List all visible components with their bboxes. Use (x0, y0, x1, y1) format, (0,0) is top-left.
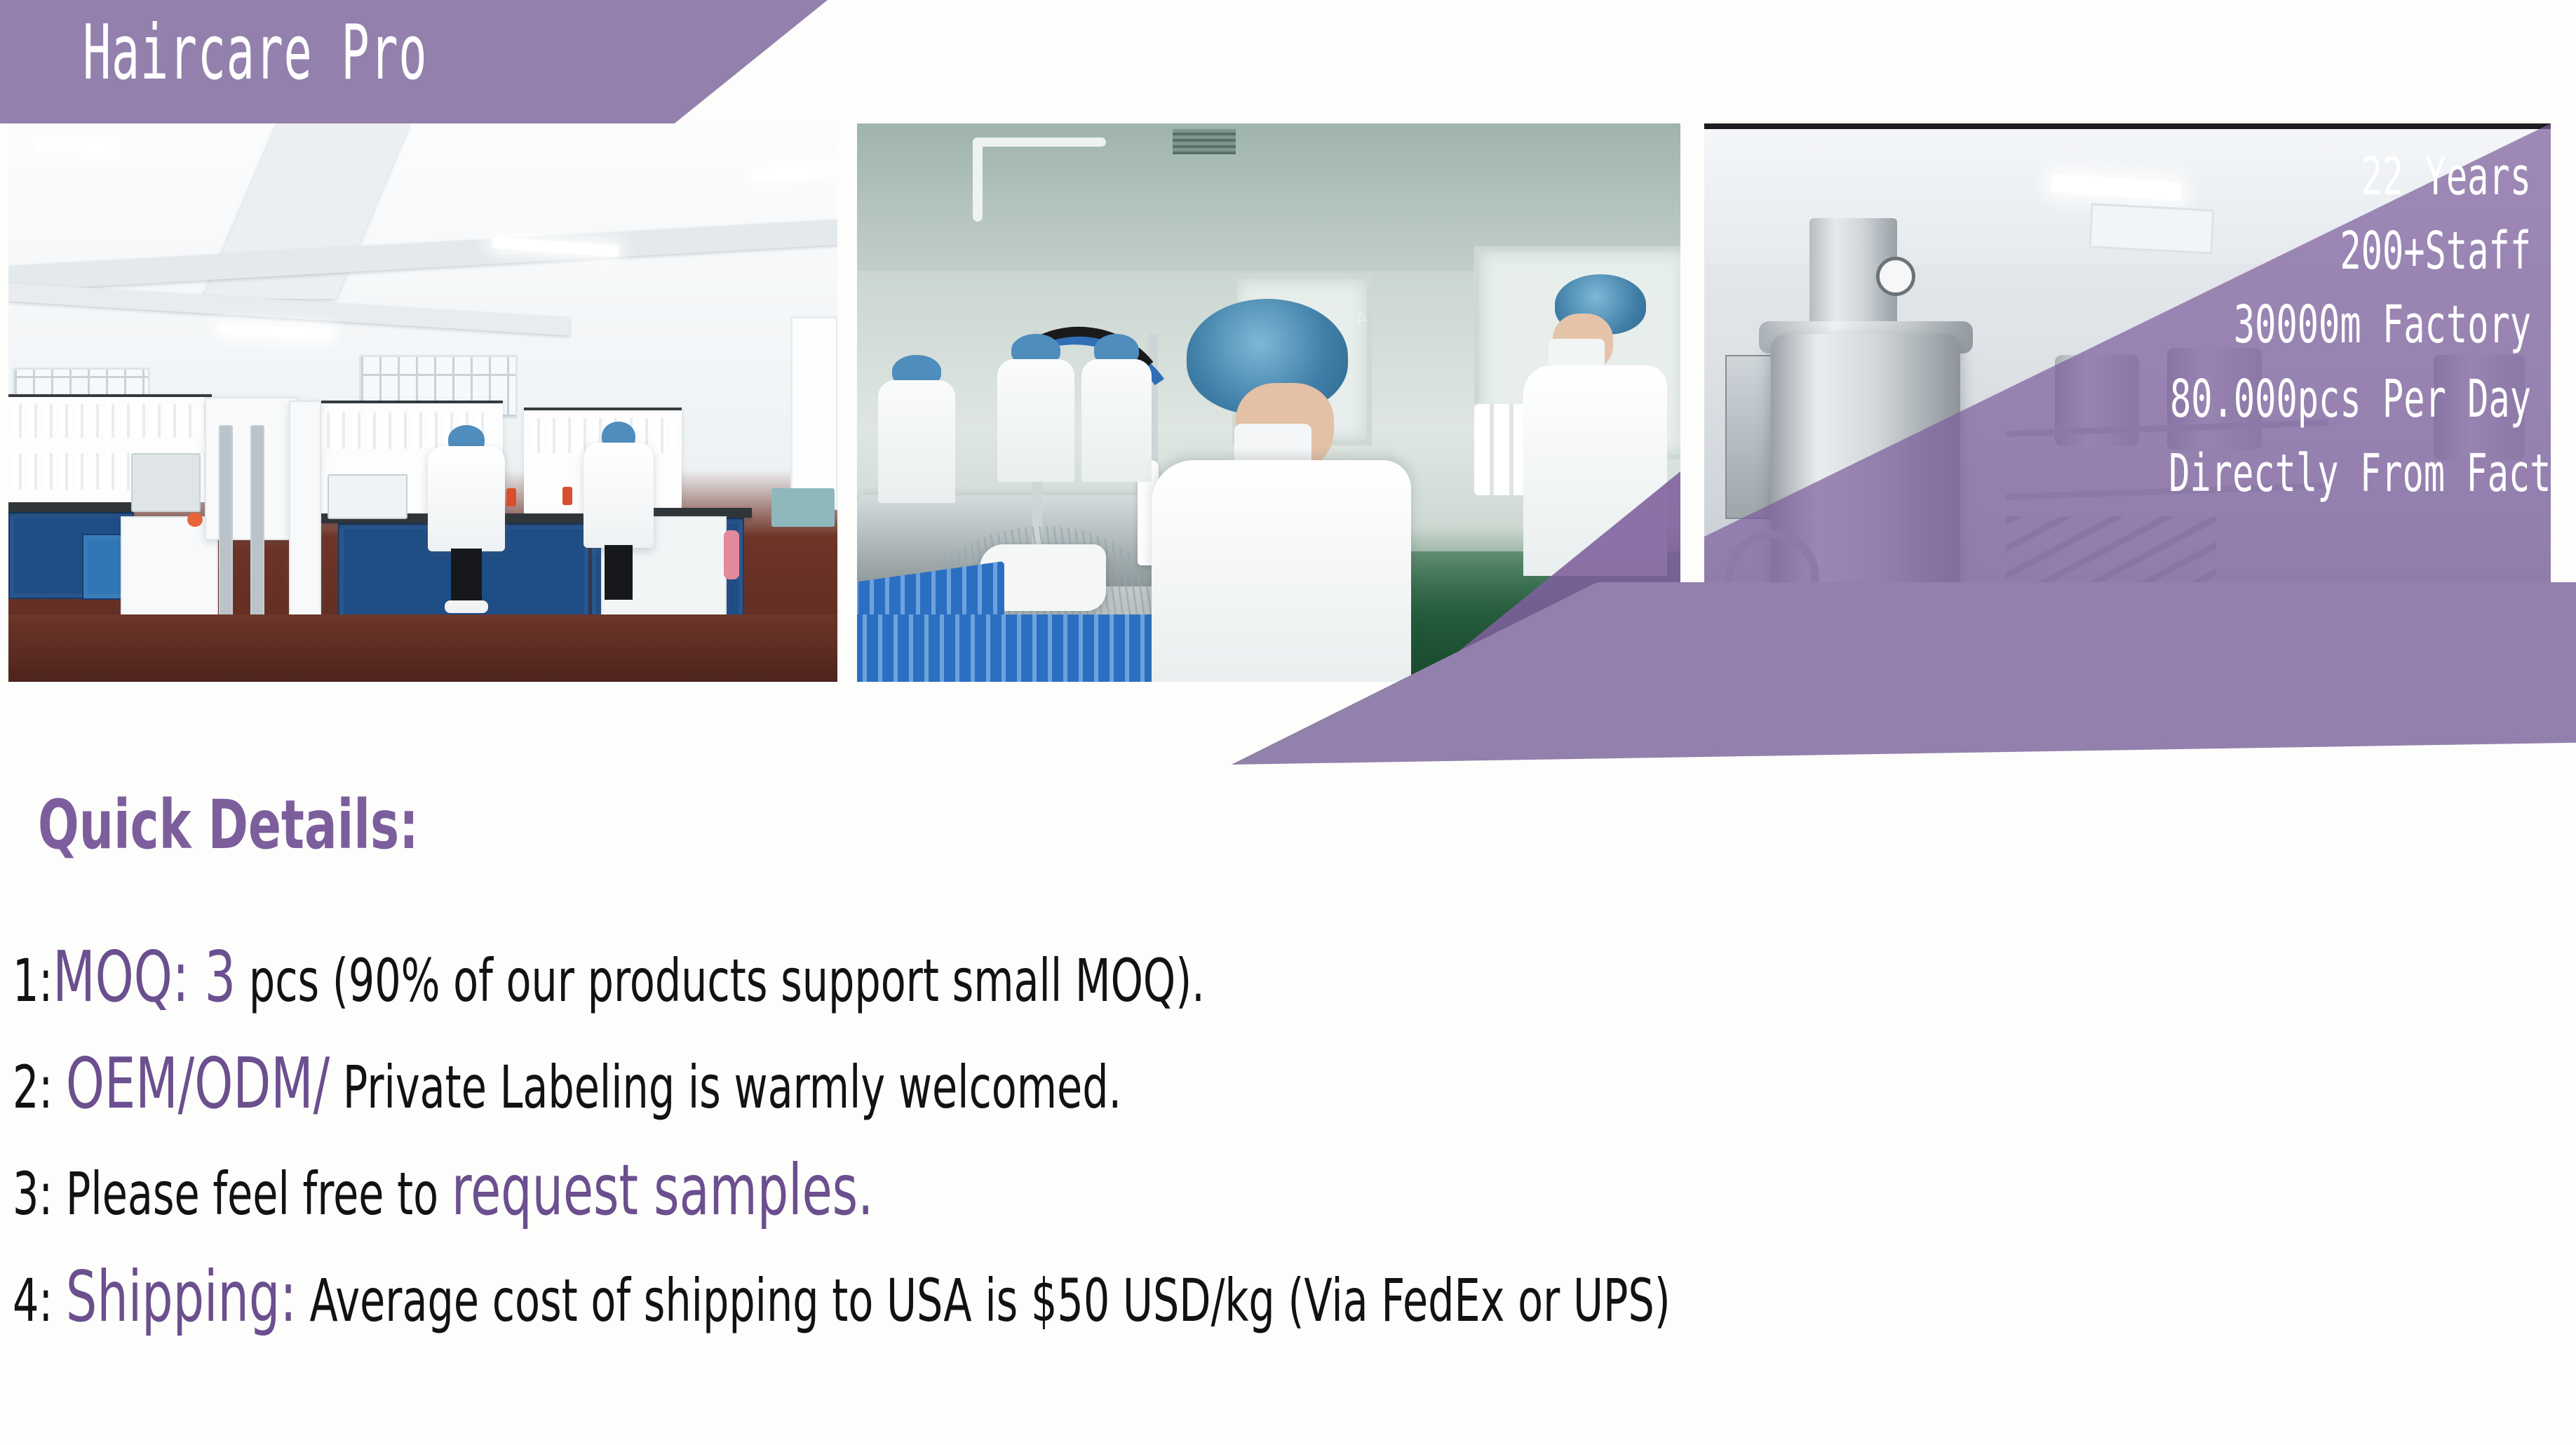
stat-daily-output: 80.000pcs Per Day (2169, 372, 2531, 427)
blue-crate (857, 614, 1159, 682)
ceiling-vent (1173, 129, 1236, 154)
bench-top (8, 502, 135, 512)
trousers (451, 549, 482, 603)
photo-filling-production-line: 4号流水线 3号流水线 (857, 123, 1680, 682)
lab-coat (997, 359, 1074, 482)
stat-years: 22 Years (2169, 150, 2531, 205)
lab-coat (428, 446, 505, 551)
teal-supplies (771, 488, 835, 527)
stat-direct-from-factory: Directly From Factory (2169, 447, 2531, 502)
photo-laboratory-qc-room (8, 123, 837, 682)
detail-index: 4: (13, 1266, 66, 1335)
quick-details-heading: Quick Details: (38, 786, 1866, 864)
quick-details-section: Quick Details: 1:MOQ: 3 pcs (90% of our … (0, 786, 2576, 1355)
lab-cabinet-white (289, 401, 321, 649)
bottle-row (13, 404, 205, 438)
detail-rest: Average cost of shipping to USA is $50 U… (297, 1266, 1671, 1335)
stat-factory-size: 30000m Factory (2169, 298, 2531, 353)
detail-line-moq: 1:MOQ: 3 pcs (90% of our products suppor… (13, 929, 1807, 1026)
detail-index: 3: Please feel free to (13, 1160, 452, 1228)
production-worker (1081, 334, 1152, 481)
orange-object (187, 513, 203, 527)
lab-coat (1081, 359, 1152, 482)
ceiling-pipe (973, 137, 983, 222)
detail-index: 1: (13, 946, 53, 1015)
detail-accent: request samples. (452, 1149, 874, 1231)
production-worker (997, 334, 1074, 485)
detail-rest: Private Labeling is warmly welcomed. (330, 1053, 1121, 1122)
lab-coat (878, 380, 955, 503)
detail-accent: Shipping: (66, 1256, 297, 1338)
stat-staff: 200+Staff (2169, 224, 2531, 279)
analytical-balance (328, 474, 407, 519)
bright-window (790, 316, 837, 510)
detail-line-oem: 2: OEM/ODM/ Private Labeling is warmly w… (13, 1035, 1807, 1132)
detail-line-samples: 3: Please feel free to request samples. (13, 1142, 1807, 1239)
promo-banner-page: Haircare Pro (0, 0, 2576, 1445)
lab-technician (584, 422, 654, 597)
detail-accent: OEM/ODM/ (66, 1042, 330, 1124)
pressure-gauge (1876, 257, 1915, 296)
red-cap-bottle (562, 487, 572, 505)
production-worker (878, 355, 955, 509)
lab-coat (1152, 460, 1411, 682)
detail-accent: MOQ: 3 (53, 936, 236, 1018)
trousers (605, 545, 633, 600)
detail-index: 2: (13, 1053, 66, 1122)
shoes (445, 600, 488, 613)
detail-rest: pcs (90% of our products support small M… (236, 946, 1205, 1015)
production-worker-foreground (1152, 299, 1411, 682)
ceiling-pipe (973, 137, 1106, 147)
brand-title: Haircare Pro (83, 6, 427, 100)
tiled-floor (8, 614, 837, 682)
red-cap-bottle (506, 488, 516, 506)
lab-coat (584, 443, 654, 548)
lab-technician (428, 425, 505, 614)
lab-instrument (131, 453, 201, 512)
detail-line-shipping: 4: Shipping: Average cost of shipping to… (13, 1249, 1807, 1345)
factory-stats-list: 22 Years 200+Staff 30000m Factory 80.000… (1998, 150, 2531, 501)
pink-flask (724, 530, 739, 579)
